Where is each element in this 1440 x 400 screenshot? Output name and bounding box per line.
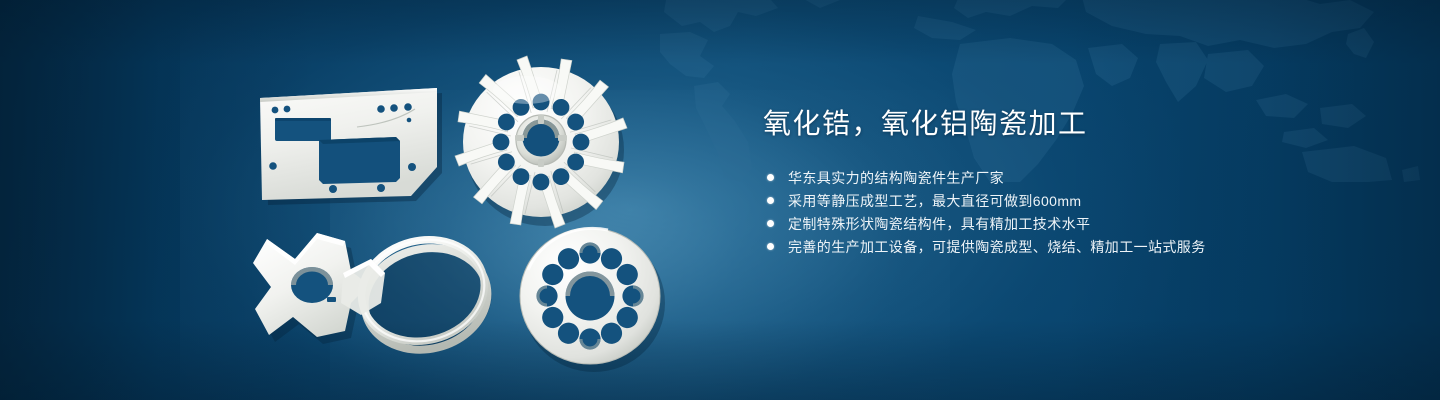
bullet-label: 采用等静压成型工艺，最大直径可做到600mm	[788, 191, 1081, 211]
ceramic-impeller-rotor	[449, 50, 633, 234]
list-item: 采用等静压成型工艺，最大直径可做到600mm	[763, 189, 1323, 212]
feature-bullet-list: 华东具实力的结构陶瓷件生产厂家 采用等静压成型工艺，最大直径可做到600mm 定…	[763, 166, 1323, 258]
bullet-dot-icon	[767, 174, 774, 181]
bullet-dot-icon	[767, 197, 774, 204]
bullet-label: 定制特殊形状陶瓷结构件，具有精加工技术水平	[788, 214, 1090, 234]
bullet-label: 华东具实力的结构陶瓷件生产厂家	[788, 168, 1004, 188]
banner-text-column: 氧化锆，氧化铝陶瓷加工 华东具实力的结构陶瓷件生产厂家 采用等静压成型工艺，最大…	[763, 104, 1323, 258]
banner-headline: 氧化锆，氧化铝陶瓷加工	[763, 104, 1323, 144]
hero-banner: 氧化锆，氧化铝陶瓷加工 华东具实力的结构陶瓷件生产厂家 采用等静压成型工艺，最大…	[0, 0, 1440, 400]
bullet-label: 完善的生产加工设备，可提供陶瓷成型、烧结、精加工一站式服务	[788, 237, 1206, 257]
list-item: 定制特殊形状陶瓷结构件，具有精加工技术水平	[763, 212, 1323, 235]
list-item: 华东具实力的结构陶瓷件生产厂家	[763, 166, 1323, 189]
bullet-dot-icon	[767, 243, 774, 250]
ceramic-perforated-disc	[513, 219, 667, 373]
ceramic-ring-washer	[341, 229, 509, 359]
list-item: 完善的生产加工设备，可提供陶瓷成型、烧结、精加工一站式服务	[763, 235, 1323, 258]
ceramic-flat-plate	[253, 83, 445, 203]
bullet-dot-icon	[767, 220, 774, 227]
